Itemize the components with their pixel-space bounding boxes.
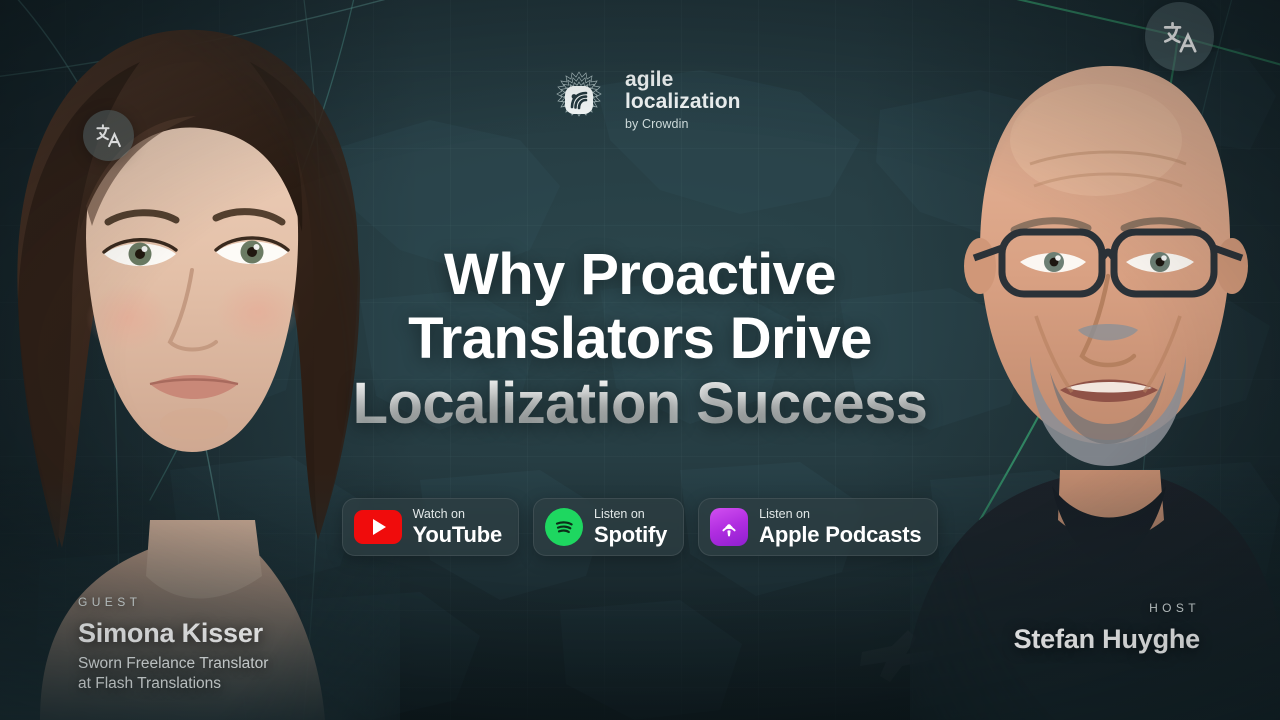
background-vignette: [0, 0, 1280, 720]
podcast-episode-cover: agile localization by Crowdin Why Proact…: [0, 0, 1280, 720]
